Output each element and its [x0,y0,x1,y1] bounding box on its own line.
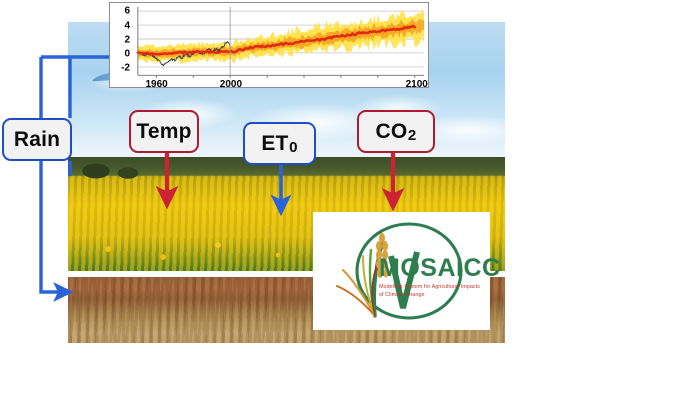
variable-label-co2: CO [375,120,407,144]
mosaicc-logo-card: MOSAICC Modelling System for Agricultura… [313,212,490,330]
variable-label-temp: Temp [136,120,191,144]
figure-canvas: 6420-2196020002100 Rain Temp ET0 [0,0,690,408]
rain-connector-upper [70,57,109,118]
variable-box-et0[interactable]: ET0 [243,122,316,165]
rain-arrow-to-soil [41,57,62,292]
variable-box-temp[interactable]: Temp [129,110,199,153]
mosaicc-tagline: Modelling System for Agricultural Impact… [379,284,491,299]
mosaicc-wordmark: MOSAICC [379,256,491,281]
mosaicc-tagline-line2: of Climate Change [379,292,491,300]
variable-label-et0: ET [261,132,288,156]
connector-arrows [0,0,690,408]
variable-subscript-et0: 0 [289,139,298,156]
variable-box-co2[interactable]: CO2 [357,110,435,153]
variable-subscript-co2: 2 [408,127,417,144]
variable-label-rain: Rain [14,128,60,152]
mosaicc-logo-text: MOSAICC Modelling System for Agricultura… [379,256,491,299]
mosaicc-tagline-line1: Modelling System for Agricultural Impact… [379,284,491,292]
variable-box-rain[interactable]: Rain [2,118,72,161]
